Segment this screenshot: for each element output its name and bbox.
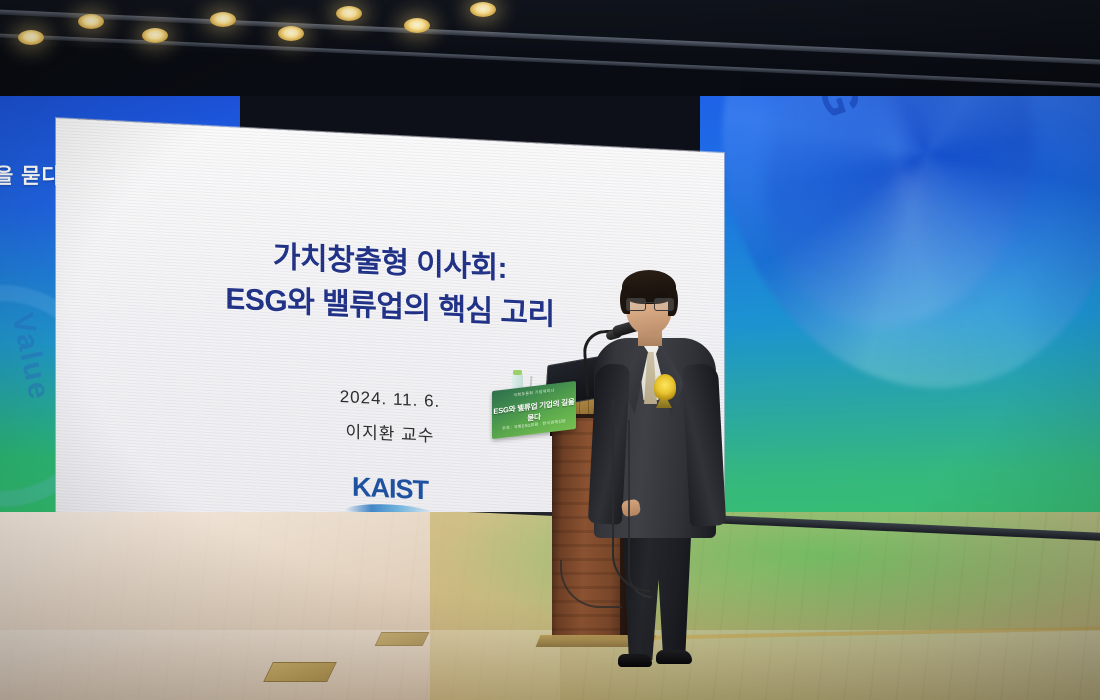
ceiling-spotlight xyxy=(336,6,362,21)
ceiling-spotlight xyxy=(278,26,304,41)
floor-brass-plate xyxy=(263,662,337,682)
ceiling-spotlight xyxy=(78,14,104,29)
ceiling-spotlight xyxy=(404,18,430,33)
water-bottle-cap xyxy=(513,370,522,375)
speaker-shoe xyxy=(656,650,692,664)
kaist-wordmark: KAIST xyxy=(321,473,458,507)
speaker-shoe xyxy=(618,654,652,667)
speaker-arm xyxy=(682,363,726,527)
ceiling-truss-area xyxy=(0,0,1100,96)
ceiling-spotlight xyxy=(470,2,496,17)
slide-date: 2024. 11. 6. xyxy=(340,380,441,420)
speaker-corsage-flower xyxy=(654,374,676,400)
left-banner-text: 을 묻다 xyxy=(0,160,62,190)
floor-cable xyxy=(628,420,652,598)
slide-presenter: 이지환 교수 xyxy=(340,415,441,455)
ceiling-spotlight xyxy=(142,28,168,43)
speaker-eyeglasses xyxy=(626,298,674,309)
ceiling-spotlight xyxy=(210,12,236,27)
ceiling-spotlight xyxy=(18,30,44,45)
floor-brass-plate xyxy=(375,632,430,646)
stage-scene: ESG Value 을 묻다 xyxy=(0,0,1100,700)
